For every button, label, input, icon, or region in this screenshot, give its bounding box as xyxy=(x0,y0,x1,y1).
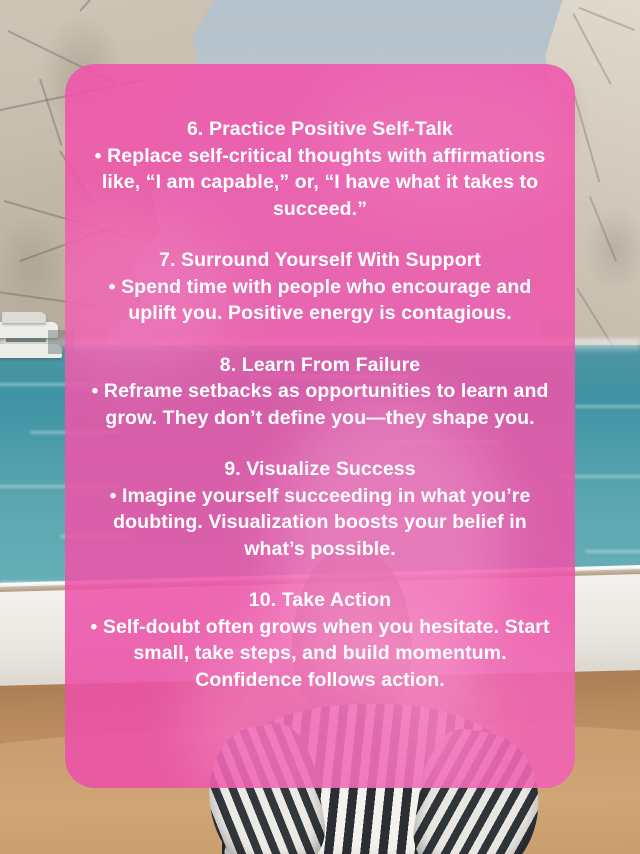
tip-body: • Spend time with people who encourage a… xyxy=(87,274,553,327)
tip-body: • Replace self-critical thoughts with af… xyxy=(87,143,553,223)
tip-title: 9. Visualize Success xyxy=(87,456,553,483)
tip-body: • Self-doubt often grows when you hesita… xyxy=(87,614,553,694)
tip-title: 6. Practice Positive Self-Talk xyxy=(87,116,553,143)
tip-body: • Imagine yourself succeeding in what yo… xyxy=(87,483,553,563)
tips-list: 6. Practice Positive Self-Talk • Replace… xyxy=(87,116,553,693)
tip-title: 8. Learn From Failure xyxy=(87,352,553,379)
tip-item: 9. Visualize Success • Imagine yourself … xyxy=(87,456,553,562)
tip-item: 7. Surround Yourself With Support • Spen… xyxy=(87,247,553,327)
pink-overlay-card: 6. Practice Positive Self-Talk • Replace… xyxy=(65,64,575,788)
tip-title: 10. Take Action xyxy=(87,587,553,614)
tip-item: 8. Learn From Failure • Reframe setbacks… xyxy=(87,352,553,432)
poster-canvas: 6. Practice Positive Self-Talk • Replace… xyxy=(0,0,640,854)
tip-body: • Reframe setbacks as opportunities to l… xyxy=(87,378,553,431)
tip-title: 7. Surround Yourself With Support xyxy=(87,247,553,274)
moored-boat xyxy=(2,312,46,323)
tip-item: 6. Practice Positive Self-Talk • Replace… xyxy=(87,116,553,222)
tip-item: 10. Take Action • Self-doubt often grows… xyxy=(87,587,553,693)
